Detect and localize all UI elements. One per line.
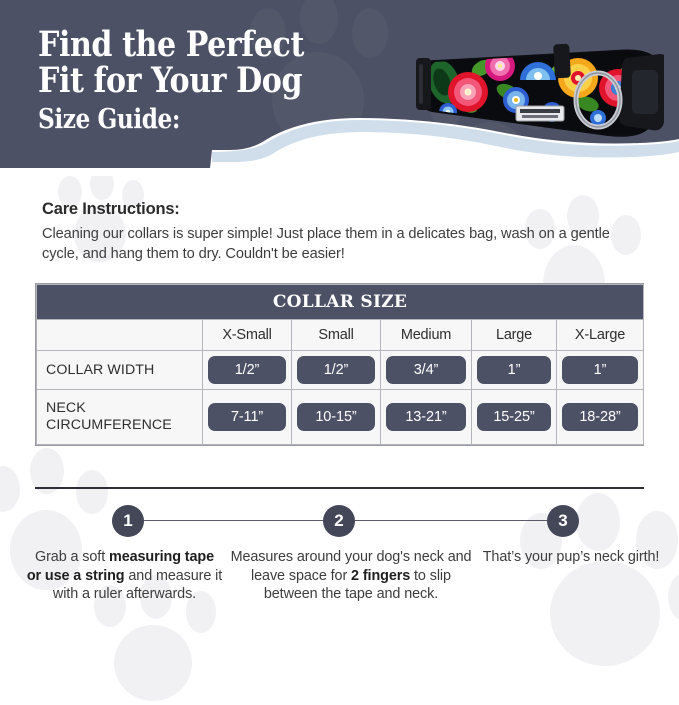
page-title: Find the Perfect Fit for Your Dog Size G… (38, 27, 347, 139)
row-label-collar-width: COLLAR WIDTH (37, 351, 203, 390)
headline-line-2: Fit for Your Dog (38, 63, 304, 99)
value-pill: 15-25” (477, 403, 551, 431)
value-pill: 1/2” (297, 356, 375, 384)
collar-product-image (412, 30, 664, 145)
row-label-line-1: NECK (46, 400, 86, 416)
table-title: COLLAR SIZE (37, 285, 644, 320)
row-label-line-2: CIRCUMFERENCE (46, 417, 172, 433)
table-corner-cell (37, 320, 203, 351)
cell-neck-xlarge: 18-28” (557, 390, 644, 445)
step-badges: 1 2 3 (0, 500, 679, 542)
care-instructions-title: Care Instructions: (42, 200, 642, 219)
value-pill: 13-21” (386, 403, 466, 431)
row-label-neck-circumference: NECK CIRCUMFERENCE (37, 390, 203, 445)
section-divider (35, 487, 644, 489)
cell-collar-width-small: 1/2” (292, 351, 381, 390)
value-pill: 1/2” (208, 356, 286, 384)
column-header-xsmall: X-Small (203, 320, 292, 351)
column-header-xlarge: X-Large (557, 320, 644, 351)
step-description-3: That’s your pup’s neck girth! (476, 548, 666, 567)
step-description-1: Grab a soft measuring tape or use a stri… (26, 548, 223, 604)
value-pill: 3/4” (386, 356, 466, 384)
step-badge-1: 1 (112, 505, 144, 537)
table-row-neck-circumference: NECK CIRCUMFERENCE 7-11” 10-15” 13-21” 1… (37, 390, 644, 445)
table-column-header-row: X-Small Small Medium Large X-Large (37, 320, 644, 351)
care-instructions-section: Care Instructions: Cleaning our collars … (42, 200, 642, 264)
collar-size-table: COLLAR SIZE X-Small Small Medium Large X… (35, 283, 644, 446)
step-badge-3: 3 (547, 505, 579, 537)
headline-line-3: Size Guide: (38, 99, 304, 139)
value-pill: 10-15” (297, 403, 375, 431)
step-badge-2: 2 (323, 505, 355, 537)
care-instructions-body: Cleaning our collars is super simple! Ju… (42, 224, 642, 264)
headline-line-1: Find the Perfect (38, 27, 304, 63)
value-pill: 1” (562, 356, 638, 384)
value-pill: 18-28” (562, 403, 638, 431)
cell-neck-small: 10-15” (292, 390, 381, 445)
value-pill: 1” (477, 356, 551, 384)
cell-collar-width-medium: 3/4” (381, 351, 472, 390)
cell-collar-width-xlarge: 1” (557, 351, 644, 390)
column-header-medium: Medium (381, 320, 472, 351)
cell-neck-xsmall: 7-11” (203, 390, 292, 445)
value-pill: 7-11” (208, 403, 286, 431)
cell-neck-medium: 13-21” (381, 390, 472, 445)
step-description-2: Measures around your dog's neck and leav… (228, 548, 474, 604)
column-header-large: Large (472, 320, 557, 351)
column-header-small: Small (292, 320, 381, 351)
table-row-collar-width: COLLAR WIDTH 1/2” 1/2” 3/4” 1” 1” (37, 351, 644, 390)
cell-collar-width-large: 1” (472, 351, 557, 390)
cell-neck-large: 15-25” (472, 390, 557, 445)
header-banner: Find the Perfect Fit for Your Dog Size G… (0, 0, 679, 176)
table-header-row: COLLAR SIZE (37, 285, 644, 320)
cell-collar-width-xsmall: 1/2” (203, 351, 292, 390)
